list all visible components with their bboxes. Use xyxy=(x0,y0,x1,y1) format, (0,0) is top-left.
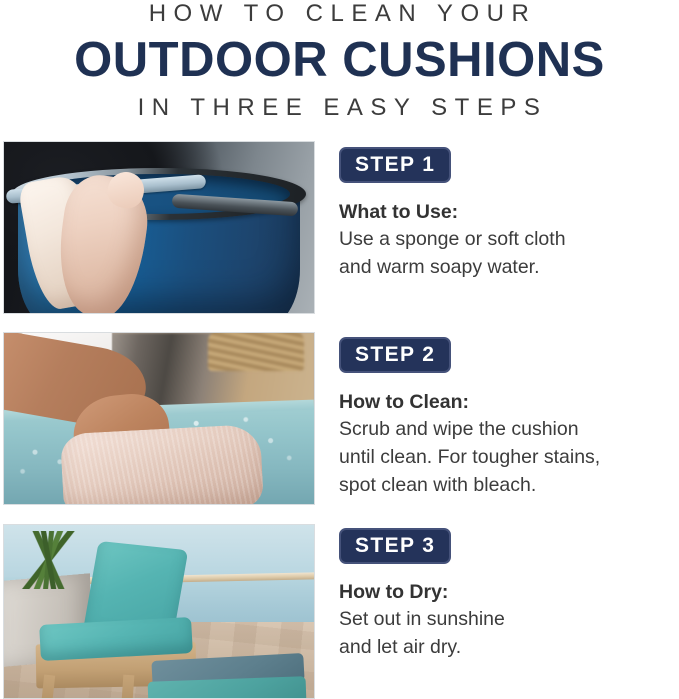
wiping-cushion-photo-illustration xyxy=(4,333,314,504)
step-1-heading: What to Use: xyxy=(339,200,674,225)
step-2-badge: STEP 2 xyxy=(339,337,451,373)
step-1-text: STEP 1 What to Use: Use a sponge or soft… xyxy=(339,141,674,281)
wicker-basket-icon xyxy=(208,332,304,371)
step-row: STEP 3 How to Dry: Set out in sunshine a… xyxy=(0,524,679,699)
step-3-photo xyxy=(3,524,315,699)
step-1-body: Use a sponge or soft cloth and warm soap… xyxy=(339,225,674,281)
bucket-photo-illustration xyxy=(4,142,314,313)
step-2-photo xyxy=(3,332,315,505)
step-3-badge: STEP 3 xyxy=(339,528,451,564)
step-2-body: Scrub and wipe the cushion until clean. … xyxy=(339,415,674,499)
page-title: OUTDOOR CUSHIONS xyxy=(0,32,679,88)
step-2-text: STEP 2 How to Clean: Scrub and wipe the … xyxy=(339,332,674,499)
step-2-heading: How to Clean: xyxy=(339,390,674,415)
step-1-body-line: Use a sponge or soft cloth xyxy=(339,225,674,253)
step-1-badge: STEP 1 xyxy=(339,147,451,183)
step-2-body-line: Scrub and wipe the cushion xyxy=(339,415,674,443)
stacked-cushions-icon xyxy=(146,657,310,699)
step-3-body-line: Set out in sunshine xyxy=(339,605,674,633)
chair-leg-icon xyxy=(121,675,135,699)
step-2-body-line: until clean. For tougher stains, xyxy=(339,443,674,471)
header-subkicker: IN THREE EASY STEPS xyxy=(6,94,679,122)
lounge-chair-photo-illustration xyxy=(4,525,314,698)
step-3-body-line: and let air dry. xyxy=(339,633,674,661)
header-kicker: HOW TO CLEAN YOUR xyxy=(6,0,679,28)
infographic-header: HOW TO CLEAN YOUR OUTDOOR CUSHIONS IN TH… xyxy=(0,0,679,122)
step-3-text: STEP 3 How to Dry: Set out in sunshine a… xyxy=(339,524,674,661)
cleaning-rag-icon xyxy=(60,424,264,505)
agave-plant-icon xyxy=(10,531,88,589)
step-2-body-line: spot clean with bleach. xyxy=(339,471,674,499)
step-1-body-line: and warm soapy water. xyxy=(339,253,674,281)
step-3-heading: How to Dry: xyxy=(339,580,674,605)
step-1-photo xyxy=(3,141,315,314)
step-row: STEP 1 What to Use: Use a sponge or soft… xyxy=(0,141,679,314)
step-3-body: Set out in sunshine and let air dry. xyxy=(339,605,674,661)
step-row: STEP 2 How to Clean: Scrub and wipe the … xyxy=(0,332,679,505)
